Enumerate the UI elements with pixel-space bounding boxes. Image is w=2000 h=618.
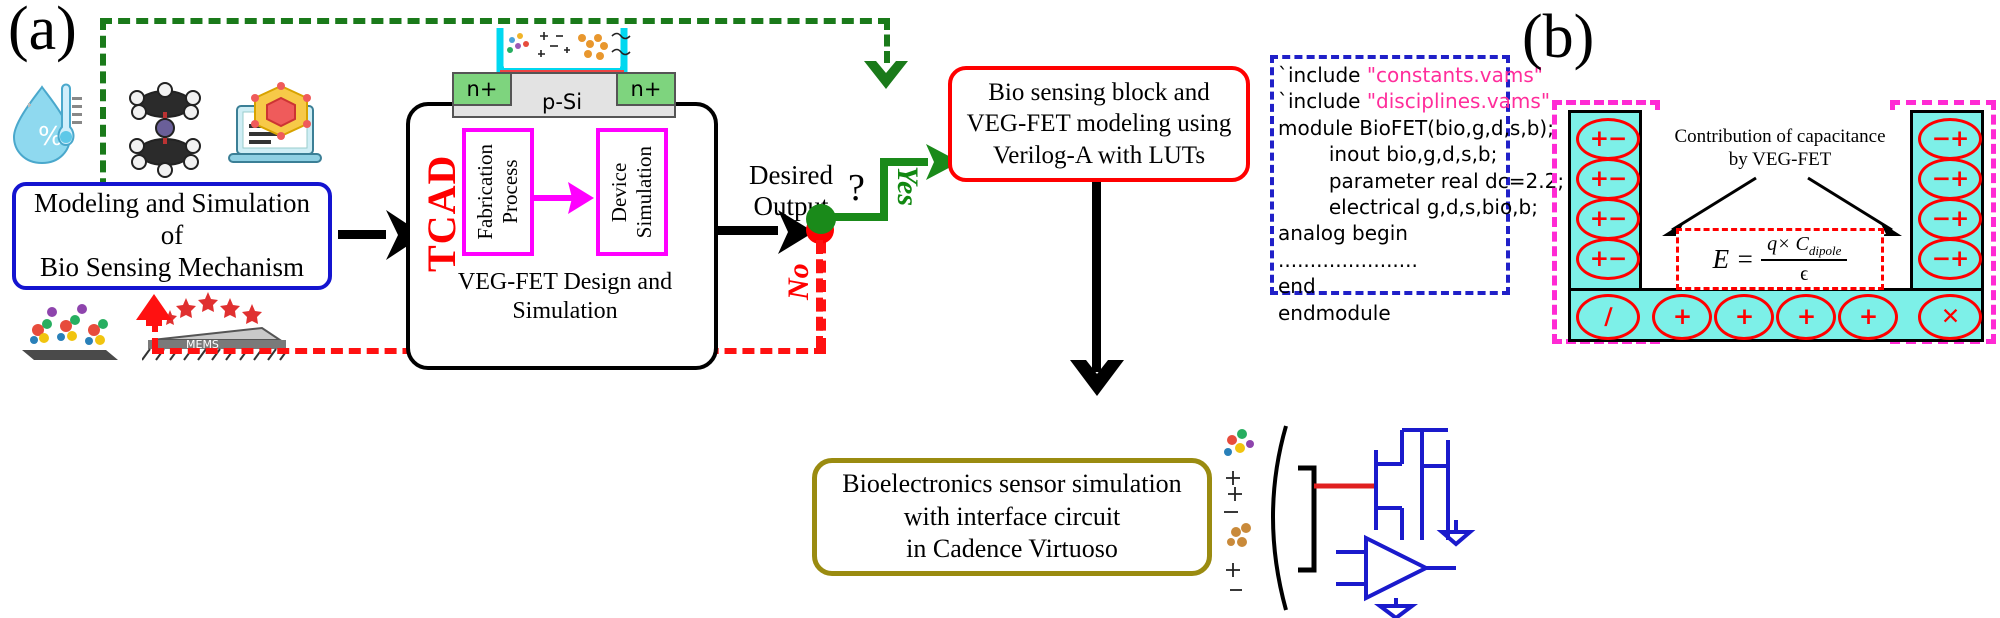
code-line: module BioFET(bio,g,d,s,b); (1278, 115, 1528, 141)
equation-lhs: E = (1713, 244, 1754, 275)
bio-sensing-block[interactable]: Bio sensing block and VEG-FET modeling u… (948, 66, 1250, 182)
dipole-oval-left-corner: ∕ (1576, 294, 1640, 340)
dipole-oval-bottom-2: + (1714, 294, 1774, 340)
device-simulation-text: Device Simulation (607, 146, 657, 238)
tcad-label: TCAD (418, 148, 465, 278)
tcad-caption: VEG-FET Design and Simulation (430, 268, 700, 326)
bio-to-cadence-line (1092, 182, 1101, 372)
no-path-vertical (816, 240, 823, 350)
code-line: `include "disciplines.vams" (1278, 88, 1528, 114)
dipole-oval-right-corner: ✕ (1918, 294, 1982, 340)
cadence-virtuoso-text: Bioelectronics sensor simulation with in… (842, 468, 1181, 566)
magenta-arrow-icon (534, 178, 596, 218)
bio-sensing-text: Bio sensing block and VEG-FET modeling u… (967, 77, 1232, 171)
no-label: No (782, 238, 816, 300)
dipole-oval-right-2: −+ (1918, 158, 1982, 200)
dipole-oval-right-4: −+ (1918, 238, 1982, 280)
interface-circuit-schematic (1216, 420, 1476, 618)
code-line: end (1278, 273, 1528, 299)
decision-question-mark: ? (848, 166, 865, 210)
capacitance-contribution-label: Contribution of capacitance by VEG-FET (1660, 126, 1900, 172)
fabrication-process-box[interactable]: Fabrication Process (462, 128, 534, 256)
fabrication-process-text: Fabrication Process (473, 144, 523, 240)
drain-n-plus: n+ (616, 72, 676, 106)
yes-label: Yes (890, 166, 924, 232)
red-arrow-up-icon (134, 292, 174, 328)
code-line: analog begin (1278, 220, 1528, 246)
bio-to-cadence-arrow-head (1068, 352, 1126, 398)
biomolecule-array-icon (14, 296, 124, 366)
humidity-sensor-icon: % (8, 75, 103, 170)
cadence-virtuoso-block[interactable]: Bioelectronics sensor simulation with in… (812, 458, 1212, 576)
source-label: n+ (467, 77, 498, 101)
equation-fraction: q× Cdipole ϵ (1761, 233, 1847, 286)
dipole-oval-left-3: +− (1576, 198, 1640, 240)
code-line: parameter real dc=2.2; (1278, 168, 1528, 194)
molecule-icon (115, 78, 215, 178)
code-line: endmodule (1278, 300, 1528, 326)
dipole-oval-bottom-1: + (1652, 294, 1712, 340)
drain-label: n+ (631, 77, 662, 101)
dipole-oval-right-1: −+ (1918, 118, 1982, 160)
source-n-plus: n+ (452, 72, 512, 106)
dipole-oval-left-1: +− (1576, 118, 1640, 160)
yes-path-vertical (880, 158, 888, 218)
code-line: `include "constants.vams" (1278, 62, 1528, 88)
substrate-label: p-Si (542, 90, 582, 114)
verilog-code-text: `include "constants.vams"`include "disci… (1278, 62, 1528, 326)
modeling-simulation-box[interactable]: Modeling and Simulation of Bio Sensing M… (12, 182, 332, 290)
dipole-oval-bottom-4: + (1838, 294, 1898, 340)
modeling-simulation-text: Modeling and Simulation of Bio Sensing M… (34, 188, 310, 284)
green-feedback-top (100, 18, 890, 24)
arrow-tcad-to-decision-line (718, 226, 778, 235)
code-line: ...................... (1278, 247, 1528, 273)
green-arrow-down-icon (862, 55, 910, 91)
dipole-oval-right-3: −+ (1918, 198, 1982, 240)
equation-numerator: q× Cdipole (1761, 233, 1847, 261)
simulation-laptop-icon (225, 80, 325, 172)
dipole-oval-left-4: +− (1576, 238, 1640, 280)
equation-denominator: ϵ (1761, 261, 1847, 286)
code-line: electrical g,d,s,bio,b; (1278, 194, 1528, 220)
panel-b-label: (b) (1522, 6, 1594, 68)
panel-a-label: (a) (8, 0, 77, 60)
dipole-equation-box: E = q× Cdipole ϵ (1676, 228, 1884, 290)
code-line: inout bio,g,d,s,b; (1278, 141, 1528, 167)
dipole-oval-left-2: +− (1576, 158, 1640, 200)
dipole-oval-bottom-3: + (1776, 294, 1836, 340)
device-simulation-box[interactable]: Device Simulation (596, 128, 668, 256)
